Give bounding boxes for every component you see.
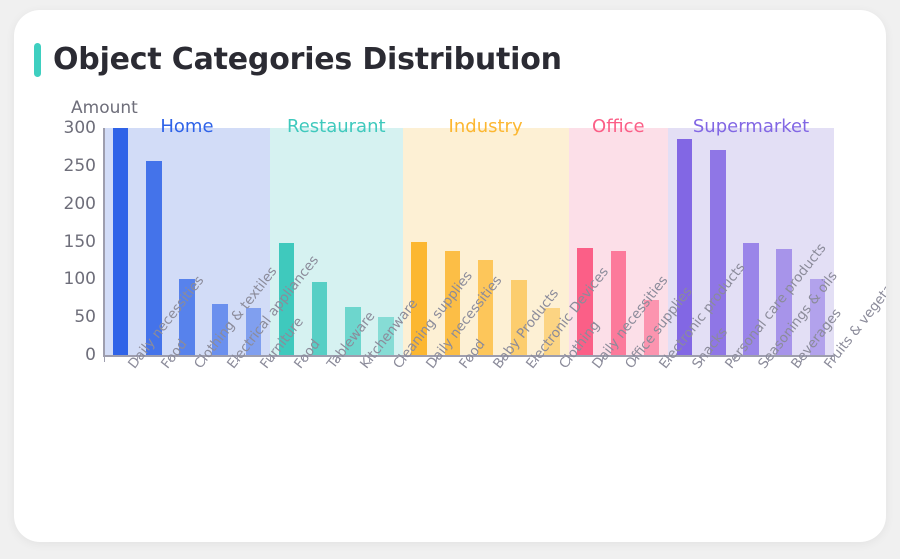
- x-axis-tick: [801, 356, 802, 362]
- y-axis-tick-label: 0: [50, 345, 96, 365]
- y-axis-tick-label: 100: [50, 269, 96, 289]
- x-axis-tick: [403, 356, 404, 362]
- group-label-restaurant: Restaurant: [287, 116, 386, 137]
- x-axis-tick: [668, 356, 669, 362]
- x-axis-tick: [502, 356, 503, 362]
- x-axis-tick: [303, 356, 304, 362]
- y-axis-tick-label: 200: [50, 194, 96, 214]
- y-axis-title: Amount: [71, 98, 138, 118]
- y-axis-tick-label: 300: [50, 118, 96, 138]
- x-axis-tick: [137, 356, 138, 362]
- group-label-office: Office: [592, 116, 645, 137]
- group-label-supermarket: Supermarket: [693, 116, 809, 137]
- x-axis-tick: [602, 356, 603, 362]
- x-axis-tick: [569, 356, 570, 362]
- x-axis-tick: [104, 356, 105, 362]
- group-label-industry: Industry: [449, 116, 523, 137]
- x-axis-tick: [701, 356, 702, 362]
- x-axis-tick: [204, 356, 205, 362]
- bar[interactable]: [113, 128, 129, 355]
- group-label-home: Home: [160, 116, 213, 137]
- x-axis-tick: [170, 356, 171, 362]
- x-axis-tick: [237, 356, 238, 362]
- x-axis-tick: [369, 356, 370, 362]
- bar-chart: Amount 050100150200250300HomeDaily neces…: [14, 10, 886, 542]
- y-axis-tick-label: 50: [50, 307, 96, 327]
- x-axis-tick: [834, 356, 835, 362]
- y-axis-line: [103, 128, 105, 357]
- x-axis-tick: [734, 356, 735, 362]
- x-axis-tick: [436, 356, 437, 362]
- chart-card: Object Categories Distribution Amount 05…: [14, 10, 886, 542]
- x-axis-tick: [635, 356, 636, 362]
- x-axis-tick: [469, 356, 470, 362]
- x-axis-tick: [336, 356, 337, 362]
- x-axis-tick: [768, 356, 769, 362]
- x-axis-tick: [535, 356, 536, 362]
- y-axis-tick-label: 250: [50, 156, 96, 176]
- x-axis-tick: [270, 356, 271, 362]
- y-axis-tick-label: 150: [50, 232, 96, 252]
